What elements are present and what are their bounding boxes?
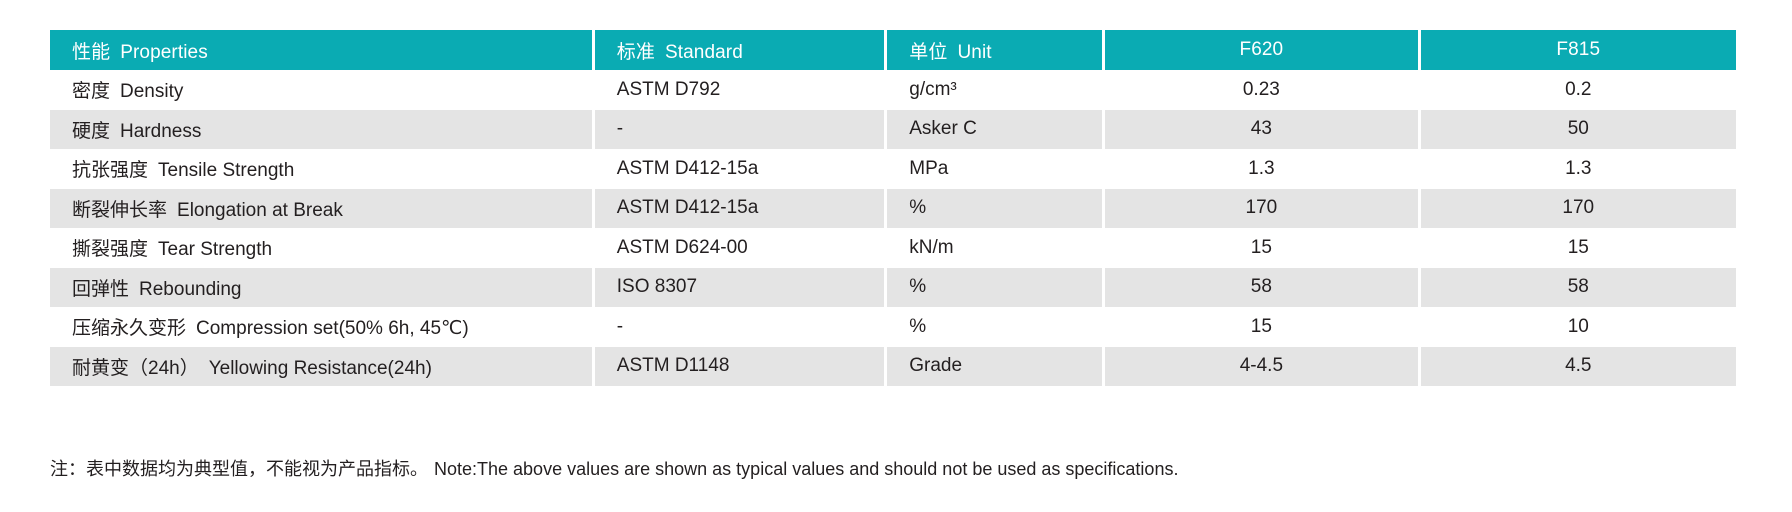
cell-f620: 15	[1105, 228, 1420, 268]
cell-f815: 15	[1421, 228, 1736, 268]
cell-property-cn: 回弹性	[72, 274, 129, 301]
cell-f815: 4.5	[1421, 347, 1736, 387]
cell-f620: 170	[1105, 189, 1420, 229]
cell-f620: 0.23	[1105, 70, 1420, 110]
spec-sheet: 性能Properties 标准Standard 单位Unit F620 F815…	[0, 0, 1792, 512]
cell-property-en: Yellowing Resistance(24h)	[209, 358, 432, 379]
cell-property-cn: 硬度	[72, 116, 110, 143]
column-header-standard: 标准Standard	[595, 30, 887, 70]
table-row: 耐黄变（24h）Yellowing Resistance(24h) ASTM D…	[50, 347, 1736, 387]
cell-unit: Grade	[887, 347, 1105, 387]
cell-unit: %	[887, 268, 1105, 308]
table-row: 回弹性Rebounding ISO 8307 % 58 58	[50, 268, 1736, 308]
column-header-property: 性能Properties	[50, 30, 595, 70]
cell-property: 断裂伸长率Elongation at Break	[50, 189, 595, 229]
cell-property-cn: 压缩永久变形	[72, 313, 186, 340]
cell-property-en: Hardness	[120, 121, 201, 142]
cell-property-cn: 撕裂强度	[72, 234, 148, 261]
table-row: 抗张强度Tensile Strength ASTM D412-15a MPa 1…	[50, 149, 1736, 189]
cell-f815: 10	[1421, 307, 1736, 347]
cell-f815: 0.2	[1421, 70, 1736, 110]
table-row: 撕裂强度Tear Strength ASTM D624-00 kN/m 15 1…	[50, 228, 1736, 268]
cell-property-en: Compression set(50% 6h, 45℃)	[196, 318, 469, 339]
cell-property-cn: 密度	[72, 76, 110, 103]
table-footnote: 注：表中数据均为典型值，不能视为产品指标。Note:The above valu…	[50, 455, 1178, 481]
cell-property-cn: 耐黄变（24h）	[72, 353, 199, 380]
table-header-row: 性能Properties 标准Standard 单位Unit F620 F815	[50, 30, 1736, 70]
cell-f815: 50	[1421, 110, 1736, 150]
cell-standard: ASTM D412-15a	[595, 189, 887, 229]
cell-standard: -	[595, 110, 887, 150]
material-properties-table: 性能Properties 标准Standard 单位Unit F620 F815…	[50, 30, 1736, 386]
cell-unit: %	[887, 307, 1105, 347]
cell-f620: 58	[1105, 268, 1420, 308]
table-row: 密度Density ASTM D792 g/cm³ 0.23 0.2	[50, 70, 1736, 110]
table-header: 性能Properties 标准Standard 单位Unit F620 F815	[50, 30, 1736, 70]
cell-standard: ASTM D1148	[595, 347, 887, 387]
cell-property-en: Tensile Strength	[158, 160, 294, 181]
table-row: 断裂伸长率Elongation at Break ASTM D412-15a %…	[50, 189, 1736, 229]
cell-unit: MPa	[887, 149, 1105, 189]
column-header-unit: 单位Unit	[887, 30, 1105, 70]
cell-property-en: Rebounding	[139, 279, 241, 300]
column-header-property-en: Properties	[120, 42, 208, 63]
cell-f815: 1.3	[1421, 149, 1736, 189]
column-header-f620: F620	[1105, 30, 1420, 70]
cell-f620: 4-4.5	[1105, 347, 1420, 387]
cell-property: 硬度Hardness	[50, 110, 595, 150]
cell-property: 撕裂强度Tear Strength	[50, 228, 595, 268]
column-header-f815: F815	[1421, 30, 1736, 70]
cell-standard: ISO 8307	[595, 268, 887, 308]
cell-property-en: Density	[120, 81, 183, 102]
column-header-unit-en: Unit	[957, 42, 991, 63]
cell-property: 压缩永久变形Compression set(50% 6h, 45℃)	[50, 307, 595, 347]
cell-property: 回弹性Rebounding	[50, 268, 595, 308]
cell-f620: 43	[1105, 110, 1420, 150]
column-header-property-cn: 性能	[72, 42, 110, 63]
cell-f620: 1.3	[1105, 149, 1420, 189]
cell-standard: -	[595, 307, 887, 347]
cell-property-en: Tear Strength	[158, 239, 272, 260]
cell-standard: ASTM D624-00	[595, 228, 887, 268]
table-row: 压缩永久变形Compression set(50% 6h, 45℃) - % 1…	[50, 307, 1736, 347]
cell-standard: ASTM D412-15a	[595, 149, 887, 189]
cell-property-cn: 断裂伸长率	[72, 195, 167, 222]
footnote-cn: 注：表中数据均为典型值，不能视为产品指标。	[50, 459, 428, 479]
cell-property: 耐黄变（24h）Yellowing Resistance(24h)	[50, 347, 595, 387]
table-body: 密度Density ASTM D792 g/cm³ 0.23 0.2 硬度Har…	[50, 70, 1736, 386]
footnote-en: Note:The above values are shown as typic…	[434, 459, 1178, 479]
table-row: 硬度Hardness - Asker C 43 50	[50, 110, 1736, 150]
column-header-standard-cn: 标准	[617, 42, 655, 63]
cell-unit: kN/m	[887, 228, 1105, 268]
cell-property: 密度Density	[50, 70, 595, 110]
column-header-standard-en: Standard	[665, 42, 743, 63]
cell-f620: 15	[1105, 307, 1420, 347]
cell-unit: Asker C	[887, 110, 1105, 150]
cell-standard: ASTM D792	[595, 70, 887, 110]
cell-f815: 170	[1421, 189, 1736, 229]
cell-property: 抗张强度Tensile Strength	[50, 149, 595, 189]
cell-property-cn: 抗张强度	[72, 155, 148, 182]
cell-property-en: Elongation at Break	[177, 200, 343, 221]
cell-unit: %	[887, 189, 1105, 229]
cell-unit: g/cm³	[887, 70, 1105, 110]
cell-f815: 58	[1421, 268, 1736, 308]
column-header-unit-cn: 单位	[909, 42, 947, 63]
